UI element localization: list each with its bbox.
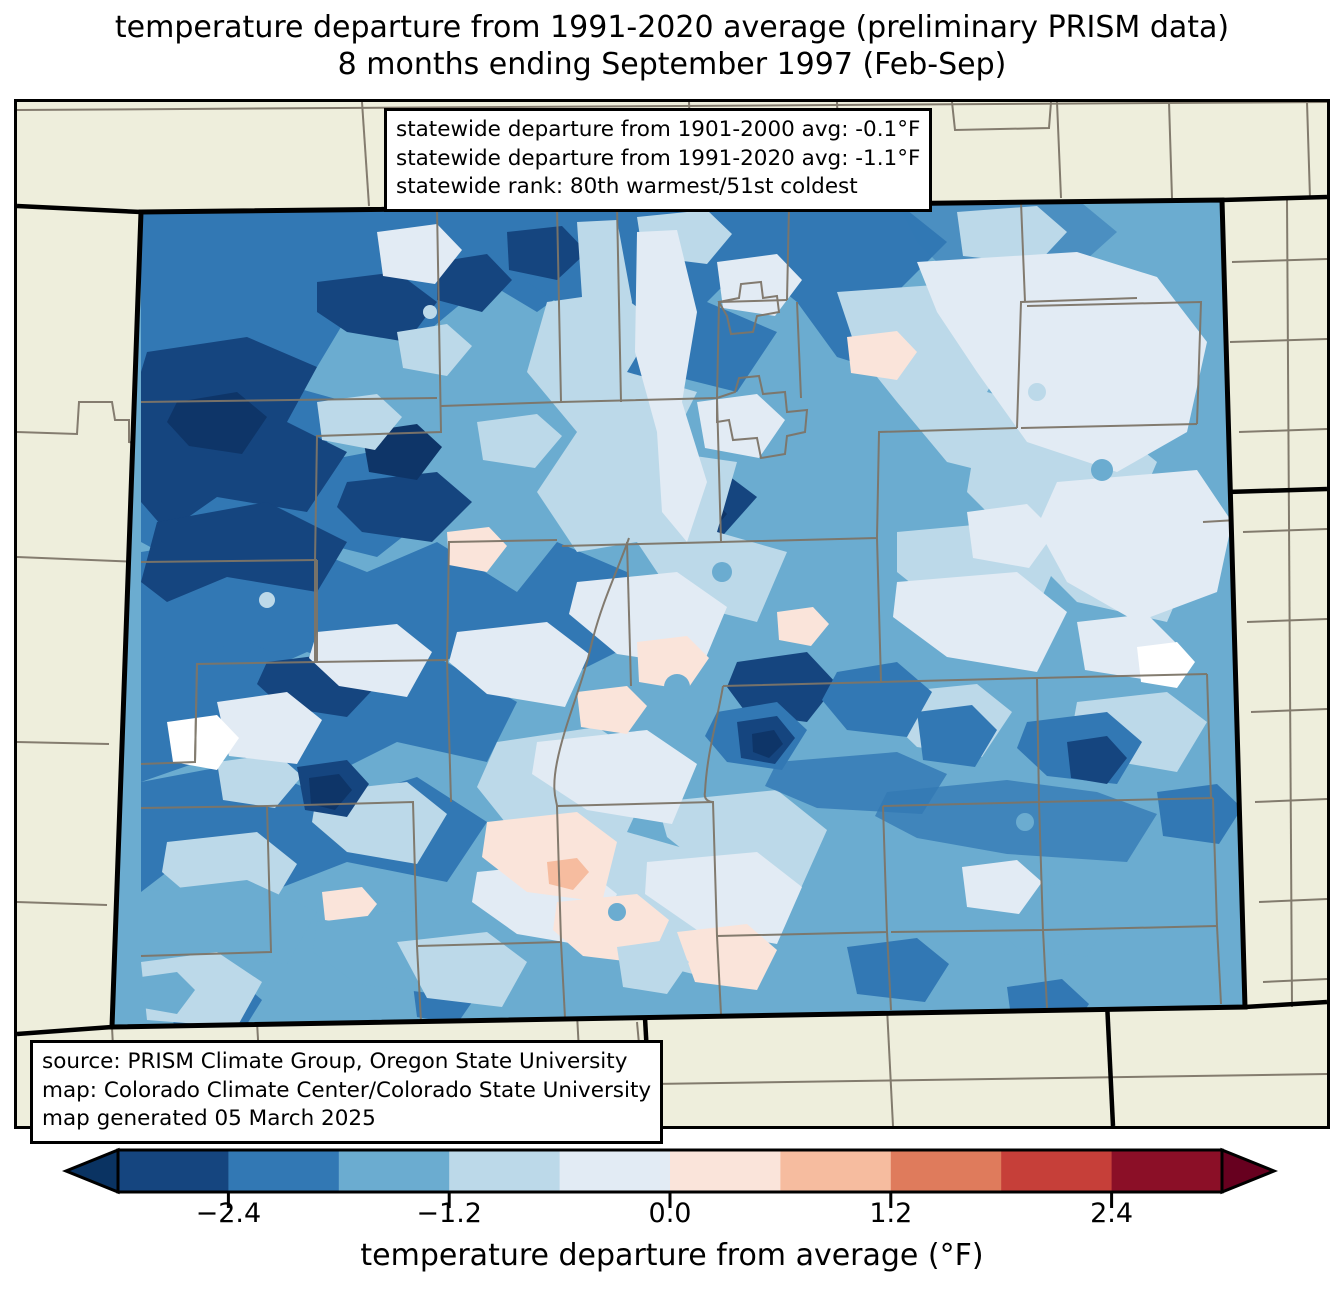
statewide-stats-box: statewide departure from 1901-2000 avg: … xyxy=(384,108,932,212)
colorbar-band xyxy=(560,1150,671,1192)
colorbar-band xyxy=(449,1150,560,1192)
colorbar-band xyxy=(1112,1150,1223,1192)
map-frame xyxy=(14,99,1330,1129)
colorbar-band xyxy=(780,1150,891,1192)
colorbar-band xyxy=(670,1150,781,1192)
colorbar-tick-label: 1.2 xyxy=(869,1198,912,1229)
colorbar-tick-label: 2.4 xyxy=(1090,1198,1133,1229)
colorbar-tick-label: −2.4 xyxy=(196,1198,262,1229)
title-line-1: temperature departure from 1991-2020 ave… xyxy=(0,10,1344,47)
colorbar-band xyxy=(1001,1150,1112,1192)
colorbar-bands xyxy=(66,1150,1274,1192)
source-line-1: source: PRISM Climate Group, Oregon Stat… xyxy=(42,1048,651,1077)
stats-line-1: statewide departure from 1901-2000 avg: … xyxy=(396,116,920,145)
stats-line-3: statewide rank: 80th warmest/51st coldes… xyxy=(396,173,920,202)
colorado-contour-map xyxy=(17,102,1327,1126)
colorbar-axis-label: temperature departure from average (°F) xyxy=(0,1238,1344,1273)
temperature-departure-contours xyxy=(97,192,1267,1042)
colorbar-band xyxy=(891,1150,1002,1192)
colorbar-under-arrow xyxy=(66,1150,118,1192)
title-line-2: 8 months ending September 1997 (Feb-Sep) xyxy=(0,47,1344,84)
colorbar-band xyxy=(118,1150,229,1192)
source-line-2: map: Colorado Climate Center/Colorado St… xyxy=(42,1077,651,1106)
colorbar-tick-label: −1.2 xyxy=(416,1198,482,1229)
colorbar-band xyxy=(339,1150,450,1192)
colorbar-band xyxy=(228,1150,339,1192)
colorbar-tick-label: 0.0 xyxy=(649,1198,692,1229)
page-title: temperature departure from 1991-2020 ave… xyxy=(0,10,1344,83)
map-canvas xyxy=(17,102,1327,1126)
colorbar-over-arrow xyxy=(1222,1150,1274,1192)
climate-map-page: temperature departure from 1991-2020 ave… xyxy=(0,0,1344,1299)
source-credit-box: source: PRISM Climate Group, Oregon Stat… xyxy=(30,1040,663,1144)
colorbar-tick-labels: −2.4−1.20.01.22.4 xyxy=(0,1198,1344,1232)
stats-line-2: statewide departure from 1991-2020 avg: … xyxy=(396,145,920,174)
source-line-3: map generated 05 March 2025 xyxy=(42,1105,651,1134)
